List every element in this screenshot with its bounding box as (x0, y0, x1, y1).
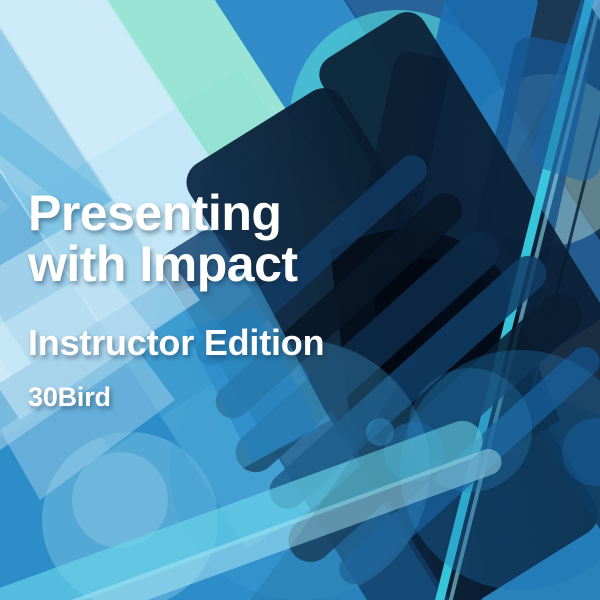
abstract-background-artwork (0, 0, 600, 600)
book-cover: Presenting with Impact Instructor Editio… (0, 0, 600, 600)
